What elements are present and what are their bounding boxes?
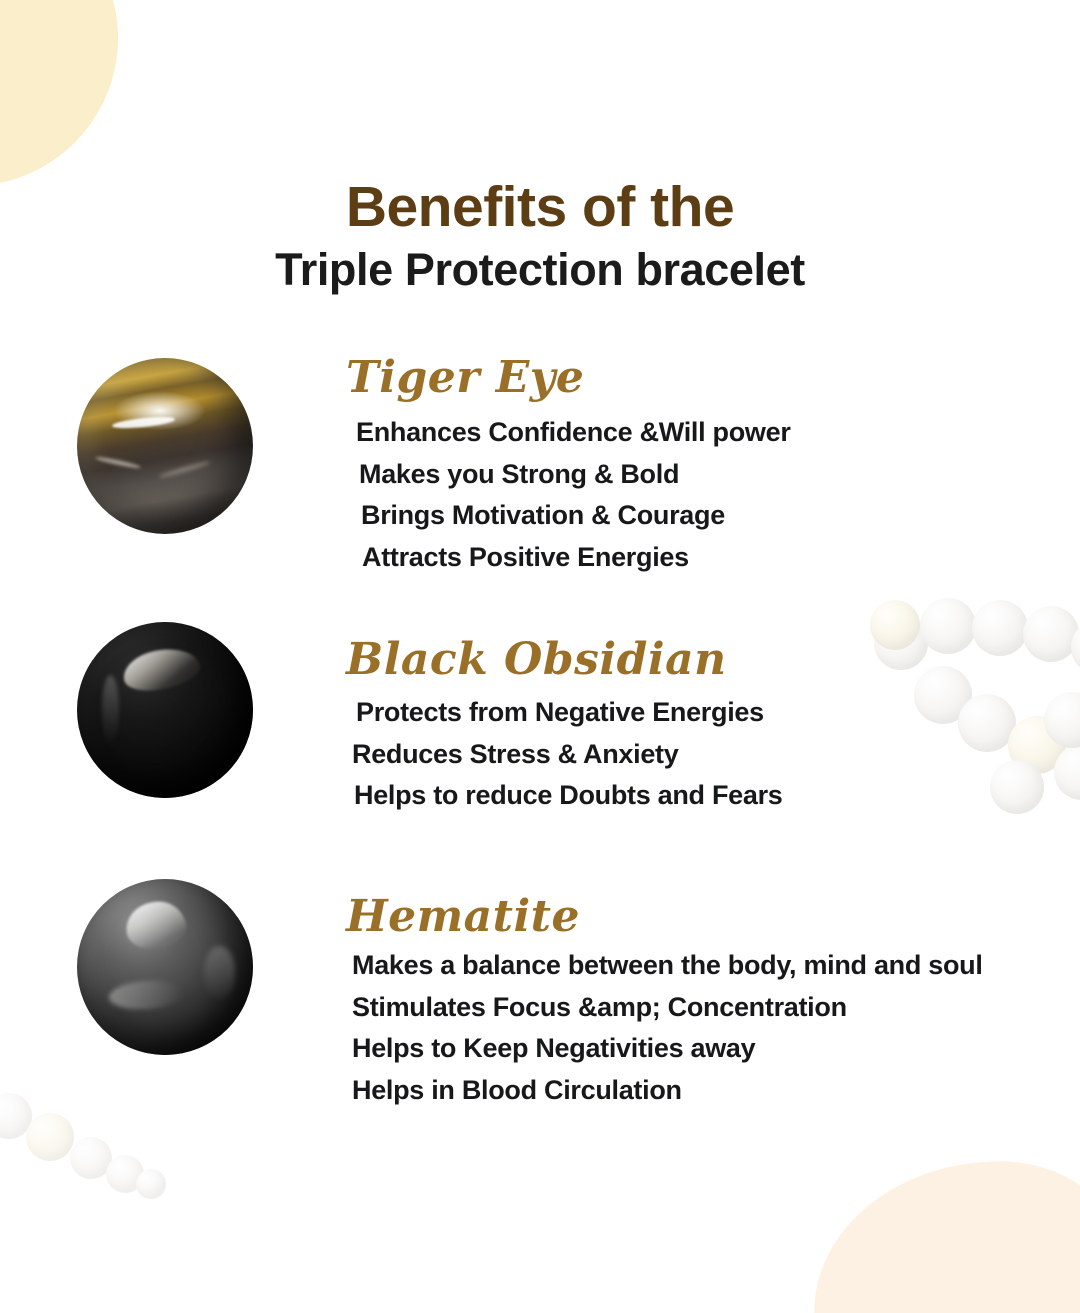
benefit-item: Reduces Stress & Anxiety	[352, 734, 783, 776]
stone-name-hematite: Hematite	[346, 895, 983, 939]
section-hematite: Hematite Makes a balance between the bod…	[0, 873, 1080, 1111]
stone-name-tiger-eye: Tiger Eye	[346, 356, 791, 400]
benefit-item: Enhances Confidence &Will power	[356, 412, 791, 454]
tiger-eye-text-block: Tiger Eye Enhances Confidence &Will powe…	[342, 352, 791, 578]
bottom-right-blob-decoration	[807, 1155, 1080, 1313]
benefit-item: Helps to reduce Doubts and Fears	[354, 775, 783, 817]
bead-highlight	[123, 898, 189, 952]
bead-highlight	[108, 979, 184, 1012]
black-obsidian-bead-cell	[0, 616, 330, 798]
section-tiger-eye: Tiger Eye Enhances Confidence &Will powe…	[0, 352, 1080, 578]
benefit-item: Makes a balance between the body, mind a…	[352, 945, 983, 987]
hematite-text-block: Hematite Makes a balance between the bod…	[342, 873, 983, 1111]
benefit-item: Helps to Keep Negativities away	[352, 1028, 983, 1070]
tiger-eye-bead-cell	[0, 352, 330, 534]
bead-highlight	[102, 675, 120, 745]
black-obsidian-text-block: Black Obsidian Protects from Negative En…	[342, 616, 783, 817]
benefit-item: Helps in Blood Circulation	[352, 1070, 983, 1112]
bead-highlight-streak	[112, 415, 176, 430]
bead-highlight-streak	[158, 460, 210, 480]
benefit-item: Brings Motivation & Courage	[361, 495, 791, 537]
bead-highlight	[120, 644, 203, 696]
title-line-2: Triple Protection bracelet	[0, 241, 1080, 300]
benefit-item: Attracts Positive Energies	[362, 537, 791, 579]
section-black-obsidian: Black Obsidian Protects from Negative En…	[0, 616, 1080, 817]
bead-highlight-streak	[95, 455, 141, 470]
bead-highlight	[204, 946, 236, 999]
black-obsidian-bead	[77, 622, 253, 798]
hematite-bead	[77, 879, 253, 1055]
stone-name-black-obsidian: Black Obsidian	[346, 638, 783, 682]
benefit-item: Protects from Negative Energies	[356, 692, 783, 734]
hematite-bead-cell	[0, 873, 330, 1055]
infographic-canvas: Benefits of the Triple Protection bracel…	[0, 0, 1080, 1313]
title-line-1: Benefits of the	[0, 178, 1080, 238]
benefit-item: Stimulates Focus &amp; Concentration	[352, 987, 983, 1029]
page-title: Benefits of the Triple Protection bracel…	[0, 178, 1080, 299]
tiger-eye-bead	[77, 358, 253, 534]
benefit-item: Makes you Strong & Bold	[359, 454, 791, 496]
top-left-circle-decoration	[0, 0, 118, 186]
